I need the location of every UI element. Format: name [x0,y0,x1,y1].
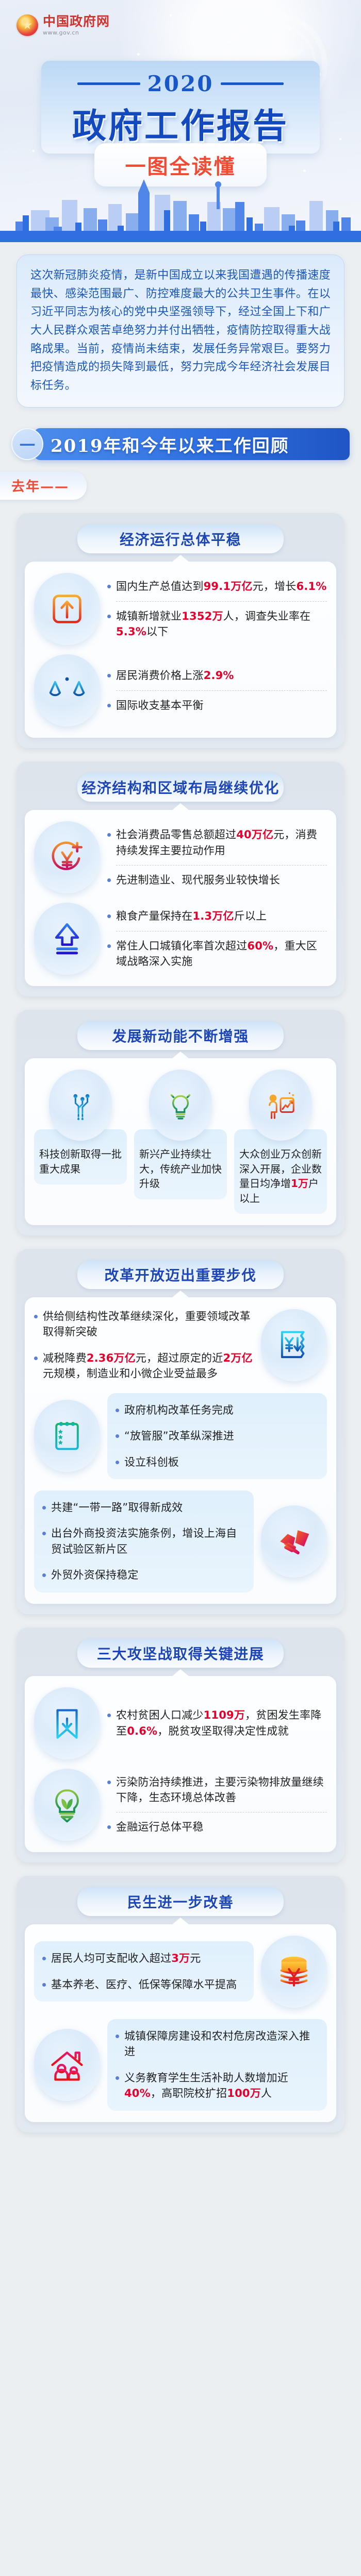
card-title-chip: 发展新动能不断增强 [77,1021,284,1050]
card-three-battles: 三大攻坚战取得关键进展 农村贫困人口减少1109万，贫困发生率降至0.6%，脱贫… [17,1628,344,1862]
bullet-dot [107,1781,111,1784]
tile-text: 大众创业万众创新深入开展，企业数量日均净增1万户以上 [234,1129,327,1214]
bullet-dot [34,1315,38,1318]
card-title-text: 民生进一步改善 [127,1891,234,1912]
bullet-dot [107,615,111,618]
hero-title: 政府工作报告 [41,98,320,148]
bullet-item: 金融运行总体平稳 [107,1819,327,1835]
bullet-text: 农村贫困人口减少1109万，贫困发生率降至0.6%，脱贫攻坚取得决定性成就 [116,1707,327,1739]
person-chart-icon [249,1070,312,1141]
bullet-item: 国内生产总值达到99.1万亿元，增长6.1% [107,579,327,594]
card-title-text: 三大攻坚战取得关键进展 [97,1643,265,1664]
card-title-chip: 民生进一步改善 [77,1887,284,1916]
bullet-text: 义务教育学生生活补助人数增加近40%，高职院校扩招100万人 [124,2070,319,2102]
checklist-clipboard-icon [34,1400,100,1472]
bullet-text: 出台外商投资法实施条例，增设上海自贸试验区新片区 [51,1526,245,1557]
divider [116,931,327,931]
card-title-chip: 经济结构和区域布局继续优化 [77,773,284,802]
bullet-item: 义务教育学生生活补助人数增加近40%，高职院校扩招100万人 [116,2070,319,2102]
bullet-item: 污染防治持续推进，主要污染物排放量继续下降，生态环境总体改善 [107,1774,327,1806]
card-title-chip: 改革开放迈出重要步伐 [77,1260,284,1289]
stat-group: 供给侧结构性改革继续深化，重要领域改革取得新突破 减税降费2.36万亿元，超过原… [34,1309,327,1382]
lightbulb-icon [149,1070,212,1141]
eco-leaf-bulb-icon [34,1769,100,1841]
card-reform-opening: 改革开放迈出重要步伐 供给侧结构性改革继续深化，重要领域改革取得新突破 [17,1249,344,1614]
site-logo-name: 中国政府网 [43,15,110,28]
intro-card: 这次新冠肺炎疫情，是新中国成立以来我国遭遇的传播速度最快、感染范围最广、防控难度… [17,255,344,408]
handshake-icon [261,1505,327,1578]
card-body: 农村贫困人口减少1109万，贫困发生率降至0.6%，脱贫攻坚取得决定性成就 [25,1676,336,1852]
bullet-text: 国内生产总值达到99.1万亿元，增长6.1% [116,579,326,594]
card-livelihood: 民生进一步改善 [17,1876,344,2132]
stat-group: 国内生产总值达到99.1万亿元，增长6.1% 城镇新增就业1352万人，调查失业… [34,573,327,645]
bullet-item: 社会消费品零售总额超过40万亿元，消费持续发挥主要拉动作用 [107,827,327,858]
bullet-text: 社会消费品零售总额超过40万亿元，消费持续发挥主要拉动作用 [116,827,327,858]
bullet-item: 居民消费价格上涨2.9% [107,668,327,683]
divider [116,601,327,602]
stat-group: 农村贫困人口减少1109万，贫困发生率降至0.6%，脱贫攻坚取得决定性成就 [34,1687,327,1759]
bullet-dot [107,585,111,588]
divider [116,865,327,866]
tile-group: 科技创新取得一批重大成果 新兴产业持续壮大，传统产业加 [34,1070,327,1214]
title-plate: 2020 政府工作报告 [41,61,320,154]
section-title-bar: 2019年和今年以来工作回顾 [34,428,350,460]
divider [116,690,327,691]
bullet-dot [107,674,111,677]
bullet-text: 减税降费2.36万亿元，超过原定的近2万亿元规模，制造业和小微企业受益最多 [43,1350,254,1382]
bullet-item: 居民人均可支配收入超过3万元 [42,1951,245,1966]
card-body: 供给侧结构性改革继续深化，重要领域改革取得新突破 减税降费2.36万亿元，超过原… [25,1297,336,1604]
card-title-text: 改革开放迈出重要步伐 [104,1264,256,1285]
rule-left [77,82,140,85]
bullet-text: 供给侧结构性改革继续深化，重要领域改革取得新突破 [43,1309,254,1340]
bullet-dot [116,2076,119,2080]
site-logo[interactable]: 中国政府网 www.gov.cn [17,14,110,36]
bullet-item: 外贸外资保持稳定 [42,1567,245,1583]
circuit-tree-icon [49,1070,112,1141]
card-structure-region: 经济结构和区域布局继续优化 社会消费品零售总额超过40万亿元，消费持续发挥主要拉… [17,761,344,996]
city-skyline-graphic [0,170,361,242]
bullet-item: 政府机构改革任务完成 [116,1402,319,1418]
bullet-text: 城镇新增就业1352万人，调查失业率在5.3%以下 [116,608,327,640]
section-number: 一 [11,428,43,460]
year-tag: 去年—— [0,471,87,500]
bullet-dot [116,2035,119,2038]
bullet-dot [34,1357,38,1360]
yuan-down-document-icon [261,1309,327,1381]
bullet-item: 城镇保障房建设和农村危房改造深入推进 [116,2028,319,2060]
bullet-item: 先进制造业、现代服务业较快增长 [107,872,327,888]
bullet-item: 农村贫困人口减少1109万，贫困发生率降至0.6%，脱贫攻坚取得决定性成就 [107,1707,327,1739]
bullet-dot [116,1461,119,1464]
balance-scale-icon [34,654,100,726]
bullet-text: 粮食产量保持在1.3万亿斤以上 [116,908,267,924]
bullet-dot [42,1532,46,1535]
bullet-dot [42,1983,46,1987]
section-title: 2019年和今年以来工作回顾 [51,432,289,457]
card-body: 社会消费品零售总额超过40万亿元，消费持续发挥主要拉动作用 先进制造业、现代服务… [25,810,336,986]
tile-item: 新兴产业持续壮大，传统产业加快升级 [134,1070,227,1214]
bullet-text: 基本养老、医疗、低保等保障水平提高 [51,1977,237,1992]
card-body: 居民人均可支配收入超过3万元 基本养老、医疗、低保等保障水平提高 [25,1924,336,2122]
tile-item: 科技创新取得一批重大成果 [34,1070,127,1214]
up-arrow-box-icon [34,573,100,645]
bullet-dot [42,1957,46,1960]
bullet-text: 常住人口城镇化率首次超过60%，重大区域战略深入实施 [116,938,327,970]
bullet-item: 设立科创板 [116,1454,319,1470]
bullet-text: 城镇保障房建设和农村危房改造深入推进 [124,2028,319,2060]
bullet-item: 国际收支基本平衡 [107,698,327,713]
bullet-dot [107,878,111,882]
bullet-text: 国际收支基本平衡 [116,698,204,713]
bullet-item: 出台外商投资法实施条例，增设上海自贸试验区新片区 [42,1526,245,1557]
card-title-text: 发展新动能不断增强 [112,1025,249,1046]
card-title-chip: 经济运行总体平稳 [77,524,284,553]
bullet-dot [107,914,111,918]
card-title-chip: 三大攻坚战取得关键进展 [77,1639,284,1668]
bullet-dot [107,704,111,707]
bullet-text: 先进制造业、现代服务业较快增长 [116,872,280,888]
up-arrow-lines-icon [34,903,100,975]
stat-group: 共建“一带一路”取得新成效 出台外商投资法实施条例，增设上海自贸试验区新片区 外… [34,1490,327,1592]
card-body: 科技创新取得一批重大成果 新兴产业持续壮大，传统产业加 [25,1058,336,1225]
bullet-text: 外贸外资保持稳定 [51,1567,139,1583]
bullet-item: 粮食产量保持在1.3万亿斤以上 [107,908,327,924]
bullet-text: 金融运行总体平稳 [116,1819,204,1835]
bullet-dot [107,944,111,948]
bullet-text: “放管服”改革纵深推进 [124,1428,234,1444]
year-tag-label: 去年—— [11,476,69,495]
yuan-plus-circle-icon [34,821,100,893]
stat-group: 居民消费价格上涨2.9% 国际收支基本平衡 [34,654,327,726]
bullet-item: 城镇新增就业1352万人，调查失业率在5.3%以下 [107,608,327,640]
bullet-text: 设立科创板 [124,1454,179,1470]
hero-year: 2020 [147,71,214,96]
coin-stack-yuan-icon [261,1936,327,2008]
tile-item: 大众创业万众创新深入开展，企业数量日均净增1万户以上 [234,1070,327,1214]
stat-group: 社会消费品零售总额超过40万亿元，消费持续发挥主要拉动作用 先进制造业、现代服务… [34,821,327,893]
bullet-dot [107,1825,111,1829]
bullet-text: 政府机构改革任务完成 [124,1402,234,1418]
card-title-text: 经济运行总体平稳 [120,529,241,549]
stat-group: 污染防治持续推进，主要污染物排放量继续下降，生态环境总体改善 金融运行总体平稳 [34,1769,327,1841]
card-economy-stable: 经济运行总体平稳 国内生产总值达到99.1万亿元，增长6.1% [17,513,344,748]
hero-banner: 中国政府网 www.gov.cn 2020 政府工作报告 一图全读懂 [0,0,361,242]
emblem-badge-icon [17,14,38,36]
bullet-item: 减税降费2.36万亿元，超过原定的近2万亿元规模，制造业和小微企业受益最多 [34,1350,254,1382]
down-arrow-bookmark-icon [34,1687,100,1759]
section-header: 一 2019年和今年以来工作回顾 [0,428,361,460]
bullet-dot [42,1573,46,1577]
rule-right [221,82,284,85]
stat-group: 粮食产量保持在1.3万亿斤以上 常住人口城镇化率首次超过60%，重大区域战略深入… [34,903,327,975]
site-logo-url: www.gov.cn [43,30,110,36]
bullet-dot [107,833,111,837]
bullet-dot [42,1506,46,1510]
bullet-text: 污染防治持续推进，主要污染物排放量继续下降，生态环境总体改善 [116,1774,327,1806]
bullet-item: 基本养老、医疗、低保等保障水平提高 [42,1977,245,1992]
bullet-dot [116,1434,119,1438]
stat-group: 政府机构改革任务完成 “放管服”改革纵深推进 设立科创板 [34,1393,327,1479]
stat-group: 城镇保障房建设和农村危房改造深入推进 义务教育学生生活补助人数增加近40%，高职… [34,2019,327,2111]
bullet-dot [107,1714,111,1717]
card-title-text: 经济结构和区域布局继续优化 [81,777,280,798]
intro-paragraph: 这次新冠肺炎疫情，是新中国成立以来我国遭遇的传播速度最快、感染范围最广、防控难度… [30,266,331,395]
bullet-item: “放管服”改革纵深推进 [116,1428,319,1444]
card-body: 国内生产总值达到99.1万亿元，增长6.1% 城镇新增就业1352万人，调查失业… [25,562,336,738]
divider [116,1812,327,1812]
house-family-icon [34,2029,100,2101]
bullet-text: 共建“一带一路”取得新成效 [51,1500,183,1515]
hero-year-row: 2020 [41,61,320,96]
bullet-item: 供给侧结构性改革继续深化，重要领域改革取得新突破 [34,1309,254,1340]
stat-group: 居民人均可支配收入超过3万元 基本养老、医疗、低保等保障水平提高 [34,1936,327,2008]
bullet-text: 居民消费价格上涨2.9% [116,668,234,683]
bullet-item: 共建“一带一路”取得新成效 [42,1500,245,1515]
bullet-text: 居民人均可支配收入超过3万元 [51,1951,201,1966]
bullet-dot [116,1409,119,1412]
bullet-item: 常住人口城镇化率首次超过60%，重大区域战略深入实施 [107,938,327,970]
card-new-drivers: 发展新动能不断增强 [17,1010,344,1235]
